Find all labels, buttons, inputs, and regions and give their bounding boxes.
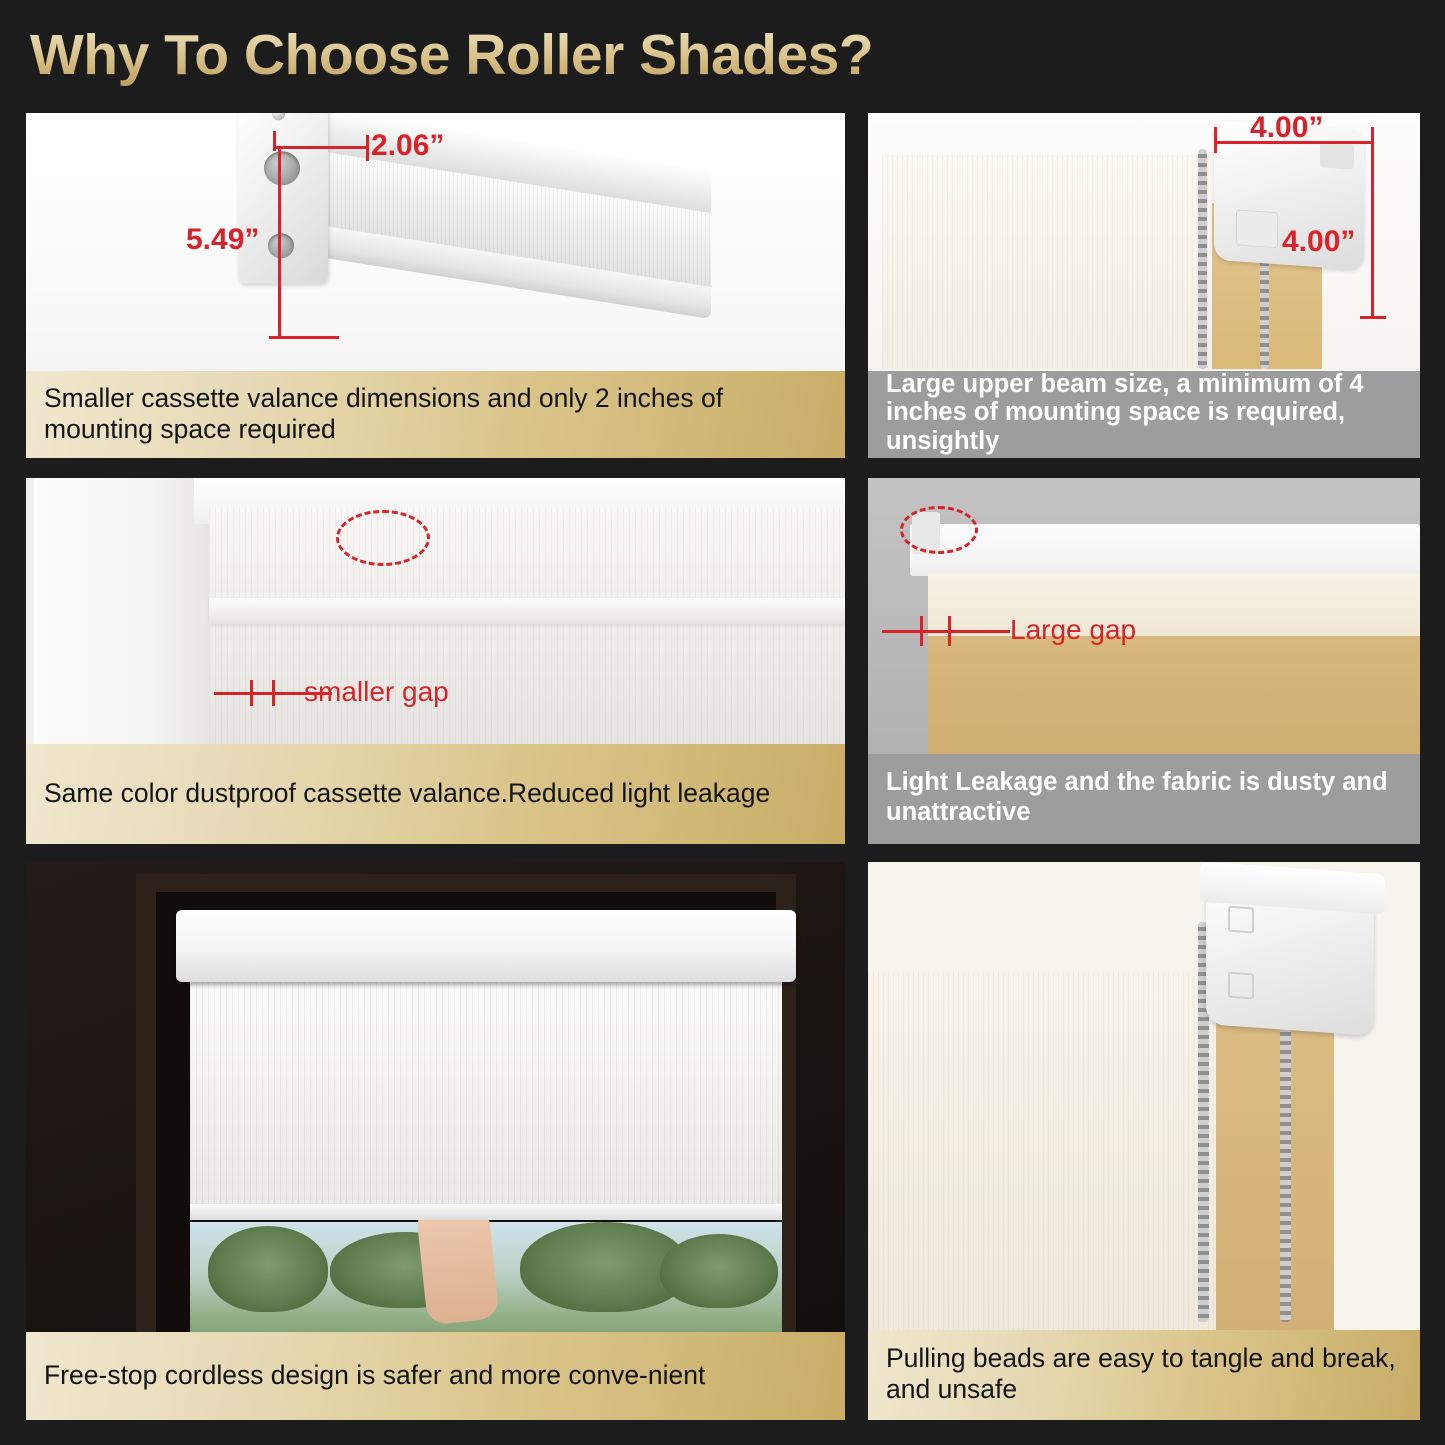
smaller-gap-label: smaller gap [304, 676, 449, 708]
gap-tick-left [920, 616, 923, 646]
panel-3-caption: Same color dustproof cassette valance.Re… [26, 744, 845, 844]
panel-5-caption: Free-stop cordless design is safer and m… [26, 1332, 845, 1420]
shade-bottom-rail [190, 1204, 782, 1220]
p2-dim-h-tick-left [1214, 127, 1217, 153]
dim-h-tick-right [366, 135, 369, 161]
roller-fabric-tan [1216, 1012, 1334, 1330]
panel-cordless-design: Free-stop cordless design is safer and m… [26, 862, 845, 1420]
panel-1-caption: Smaller cassette valance dimensions and … [26, 371, 845, 458]
page-title: Why To Choose Roller Shades? [30, 22, 873, 88]
panel-2-caption: Large upper beam size, a minimum of 4 in… [868, 371, 1420, 458]
tree-shape [660, 1234, 778, 1308]
beam-slot-icon [1228, 906, 1254, 934]
window-outer-frame [136, 874, 796, 1332]
gap-arrow-line [882, 630, 1010, 633]
valance-screw-icon [272, 113, 285, 120]
p2-dim-label-height: 4.00” [1282, 225, 1355, 259]
panel-4-photo: Large gap [868, 478, 1420, 754]
panel-smaller-gap: smaller gap Same color dustproof cassett… [26, 478, 845, 844]
valance-end-cap [238, 113, 328, 283]
tree-shape [208, 1226, 328, 1312]
gap-tick-right [948, 616, 951, 646]
gap-tick-right [272, 680, 275, 706]
p2-dim-v-line [1371, 149, 1374, 319]
panel-large-gap: Large gap Light Leakage and the fabric i… [868, 478, 1420, 844]
roller-fabric-light [882, 155, 1212, 369]
panel-pulling-beads: Pulling beads are easy to tangle and bre… [868, 862, 1420, 1420]
gap-tick-left [250, 680, 253, 706]
panel-4-caption: Light Leakage and the fabric is dusty an… [868, 754, 1420, 844]
roller-top-strip [910, 524, 1420, 576]
shade-fabric [190, 978, 782, 1212]
p2-dim-label-width: 4.00” [1250, 113, 1323, 145]
gap-highlight-ellipse [900, 506, 978, 554]
roller-fabric-light [928, 574, 1420, 636]
panel-large-upper-beam: 4.00” 4.00” Large upper beam size, a min… [868, 113, 1420, 458]
cassette-valance [176, 910, 796, 982]
infographic-page: Why To Choose Roller Shades? 2.06” [0, 0, 1445, 1445]
dim-label-width: 2.06” [371, 129, 444, 163]
window-frame-left [34, 478, 209, 744]
dim-v-line [278, 149, 281, 339]
bead-chain-right [1280, 982, 1291, 1322]
panel-3-photo: smaller gap [26, 478, 845, 744]
beam-slot-icon [1228, 972, 1254, 1000]
panel-2-photo: 4.00” 4.00” [868, 113, 1420, 371]
dim-h-line [273, 146, 369, 149]
gap-highlight-ellipse [336, 510, 430, 566]
panel-6-photo [868, 862, 1420, 1330]
dim-label-height: 5.49” [186, 223, 259, 257]
dim-h-tick-left [273, 131, 276, 151]
valance-hole-icon [264, 151, 300, 185]
bead-chain-left [1198, 149, 1207, 369]
large-gap-label: Large gap [1010, 614, 1136, 646]
p2-dim-v-tick-bottom [1360, 316, 1386, 319]
shade-fabric [209, 508, 845, 744]
panel-6-caption: Pulling beads are easy to tangle and bre… [868, 1330, 1420, 1420]
valance-small-hole-icon [268, 233, 294, 258]
dim-v-tick-bottom [269, 336, 339, 339]
roller-fabric-tan [928, 636, 1420, 754]
window-inner [156, 892, 776, 1332]
beam-notch [1320, 141, 1354, 169]
panel-1-photo: 2.06” 5.49” [26, 113, 845, 371]
shade-mid-rail [209, 598, 845, 624]
beam-tab [1236, 209, 1278, 248]
roller-fabric-light [868, 972, 1216, 1330]
panel-5-photo [26, 862, 845, 1332]
panel-smaller-cassette: 2.06” 5.49” Smaller cassette valance dim… [26, 113, 845, 458]
